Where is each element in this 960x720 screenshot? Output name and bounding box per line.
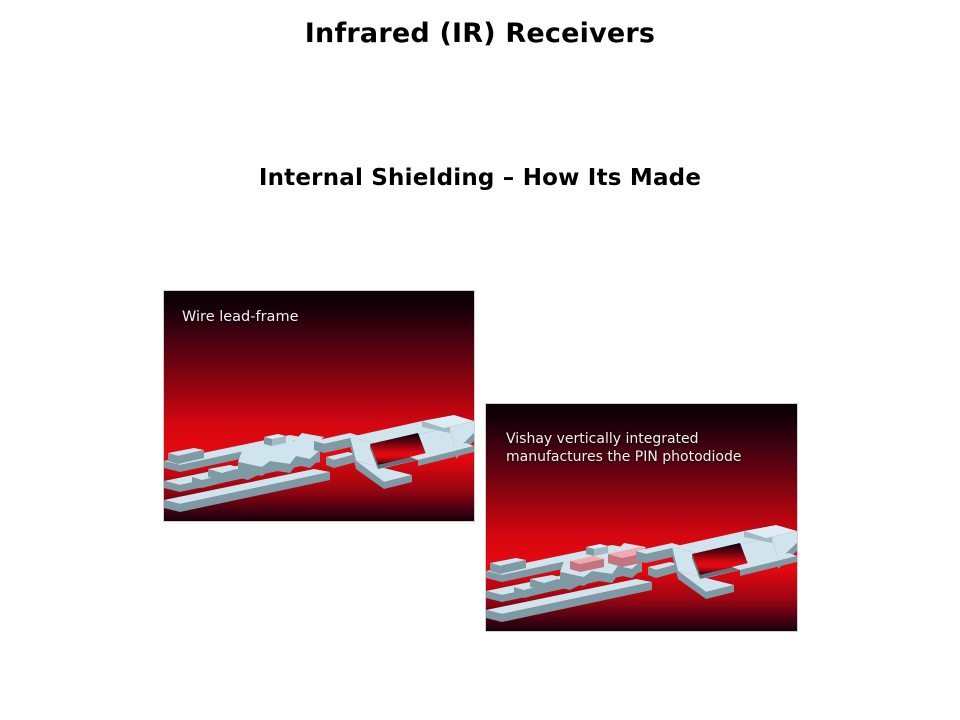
figure-background — [164, 291, 474, 521]
slide-canvas: Infrared (IR) Receivers Internal Shieldi… — [0, 0, 960, 720]
page-title: Infrared (IR) Receivers — [0, 18, 960, 49]
figure-background — [486, 404, 797, 631]
page-subtitle: Internal Shielding – How Its Made — [0, 165, 960, 191]
lead-frame-illustration — [164, 291, 474, 521]
figure-pin-photodiode: Vishay vertically integrated manufacture… — [486, 404, 797, 631]
figure-wire-lead-frame: Wire lead-frame — [164, 291, 474, 521]
photodiode-illustration — [486, 404, 797, 631]
